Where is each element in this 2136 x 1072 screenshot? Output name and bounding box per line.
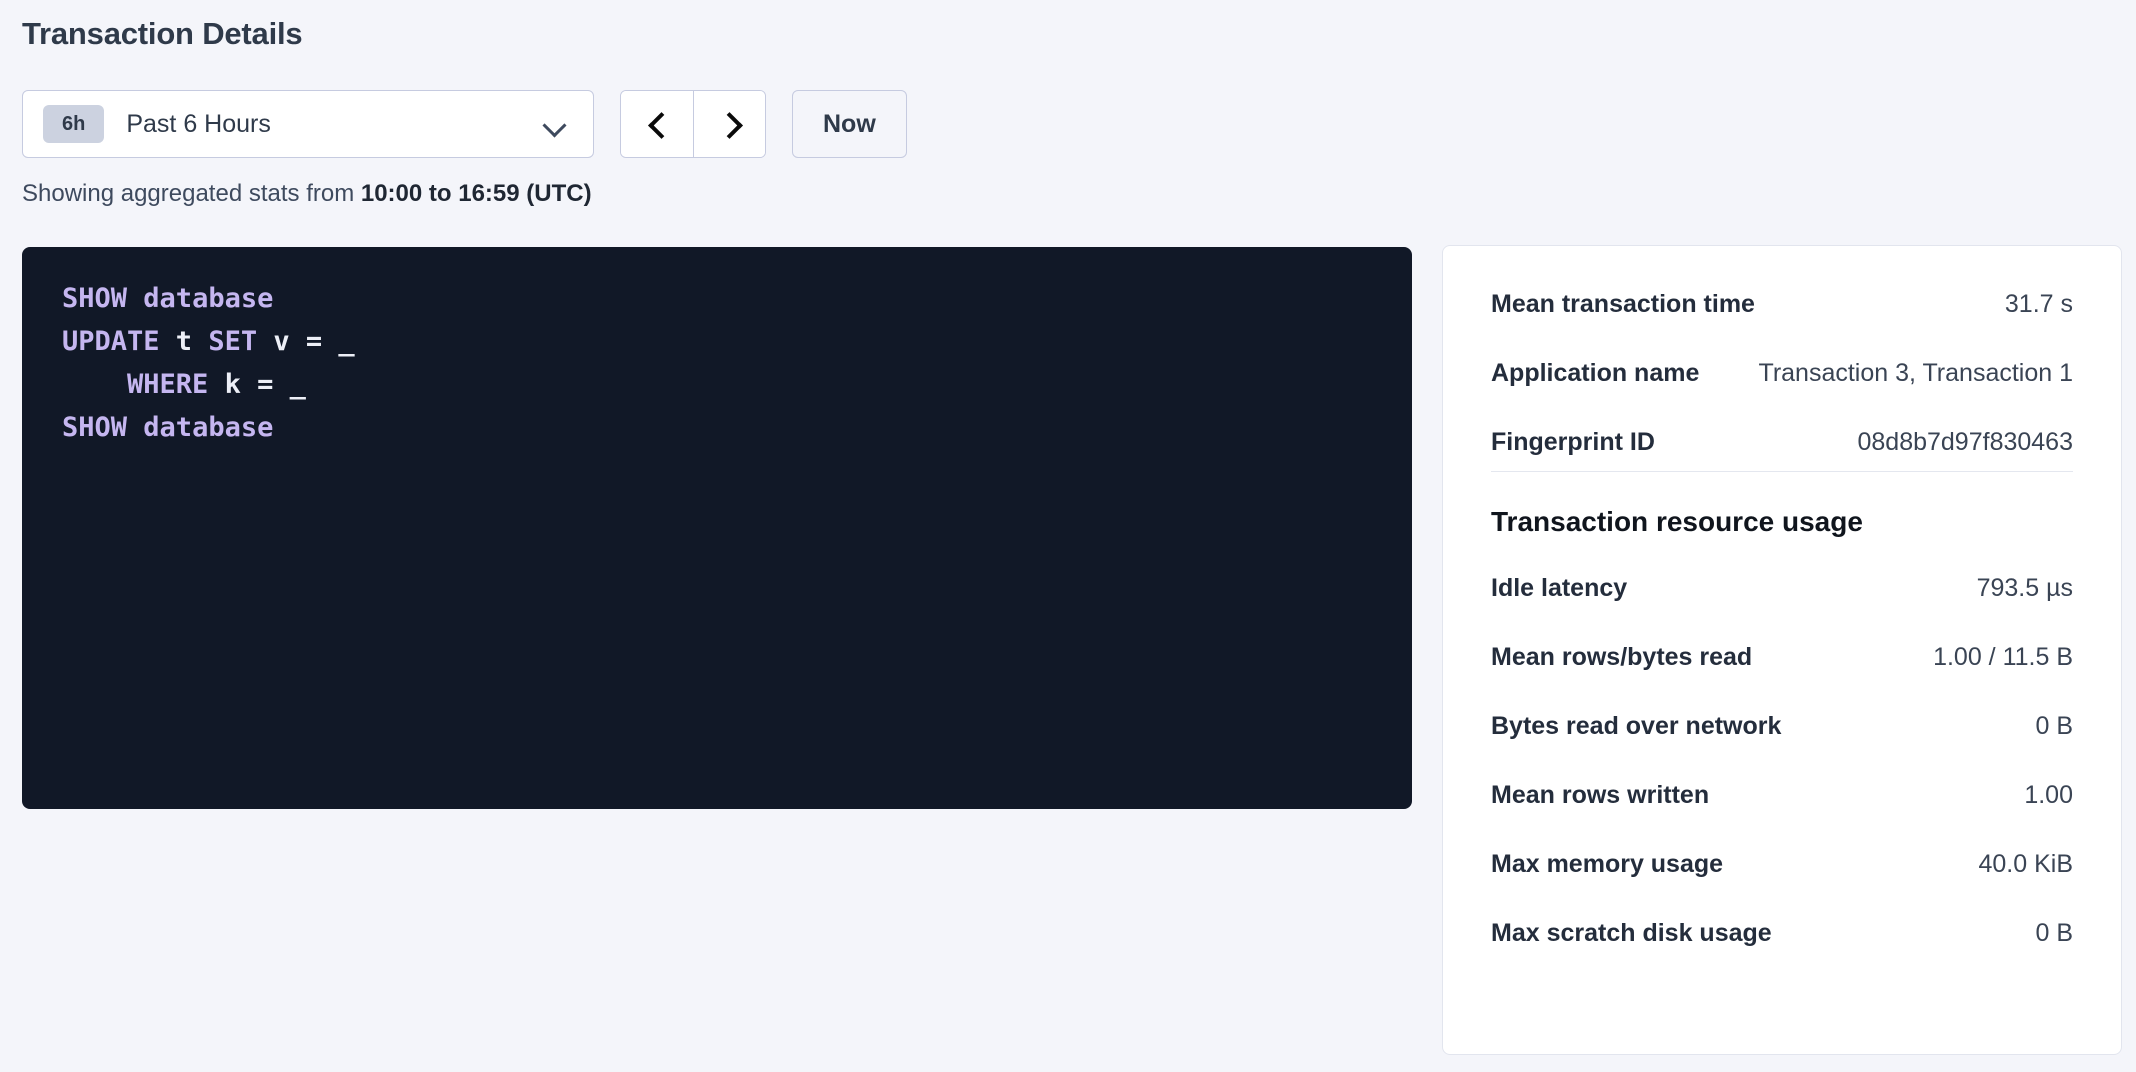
time-range-label: Past 6 Hours (126, 110, 543, 139)
resource-label: Bytes read over network (1491, 712, 1781, 741)
time-nav-group (620, 90, 766, 158)
detail-row: Max memory usage40.0 KiB (1491, 850, 2073, 879)
detail-value: 31.7 s (2005, 290, 2073, 319)
sql-token-plain (62, 369, 127, 400)
sql-token-kw: SET (208, 326, 257, 357)
detail-row: Mean rows written1.00 (1491, 781, 2073, 810)
transaction-summary-list: Mean transaction time31.7 sApplication n… (1491, 290, 2073, 457)
time-range-select[interactable]: 6h Past 6 Hours (22, 90, 594, 158)
resource-value: 793.5 µs (1977, 574, 2073, 603)
detail-value: 08d8b7d97f830463 (1857, 428, 2073, 457)
chevron-right-icon (719, 113, 741, 135)
detail-row: Max scratch disk usage0 B (1491, 919, 2073, 948)
next-range-button[interactable] (693, 91, 765, 157)
detail-label: Fingerprint ID (1491, 428, 1655, 457)
sql-statement-block[interactable]: SHOW databaseUPDATE t SET v = _ WHERE k … (22, 247, 1412, 809)
detail-value: Transaction 3, Transaction 1 (1758, 359, 2073, 388)
aggregation-range-value: 10:00 to 16:59 (UTC) (361, 180, 592, 207)
chevron-left-icon (646, 113, 668, 135)
now-button[interactable]: Now (792, 90, 907, 158)
sql-token-kw: SHOW (62, 283, 127, 314)
detail-label: Application name (1491, 359, 1699, 388)
resource-label: Max memory usage (1491, 850, 1723, 879)
sql-line: UPDATE t SET v = _ (62, 320, 1372, 363)
resource-label: Max scratch disk usage (1491, 919, 1772, 948)
sql-token-plain (127, 412, 143, 443)
detail-row: Mean rows/bytes read1.00 / 11.5 B (1491, 643, 2073, 672)
time-range-toolbar: 6h Past 6 Hours Now (22, 90, 907, 158)
sql-token-plain: k = _ (208, 369, 306, 400)
sql-token-plain: t (160, 326, 209, 357)
page-title: Transaction Details (22, 16, 302, 52)
resource-value: 0 B (2035, 919, 2073, 948)
resource-value: 0 B (2035, 712, 2073, 741)
detail-row: Mean transaction time31.7 s (1491, 290, 2073, 319)
sql-line: SHOW database (62, 406, 1372, 449)
detail-row: Fingerprint ID08d8b7d97f830463 (1491, 428, 2073, 457)
resource-label: Idle latency (1491, 574, 1627, 603)
resource-label: Mean rows/bytes read (1491, 643, 1752, 672)
resource-usage-title: Transaction resource usage (1491, 506, 2073, 538)
sql-token-kw: WHERE (127, 369, 208, 400)
resource-value: 40.0 KiB (1978, 850, 2073, 879)
previous-range-button[interactable] (621, 91, 693, 157)
detail-row: Idle latency793.5 µs (1491, 574, 2073, 603)
sql-token-plain (127, 283, 143, 314)
detail-row: Bytes read over network0 B (1491, 712, 2073, 741)
sql-token-id: database (143, 283, 273, 314)
sql-token-plain: v = _ (257, 326, 355, 357)
transaction-details-page: Transaction Details 6h Past 6 Hours Now … (0, 0, 2136, 1072)
aggregation-range-text: Showing aggregated stats from 10:00 to 1… (22, 180, 592, 208)
aggregation-range-prefix: Showing aggregated stats from (22, 180, 361, 207)
sql-token-kw: UPDATE (62, 326, 160, 357)
sql-token-id: database (143, 412, 273, 443)
time-range-badge: 6h (43, 105, 104, 143)
resource-label: Mean rows written (1491, 781, 1709, 810)
resource-value: 1.00 (2024, 781, 2073, 810)
sql-token-kw: SHOW (62, 412, 127, 443)
chevron-down-icon (543, 112, 567, 136)
resource-value: 1.00 / 11.5 B (1933, 643, 2073, 672)
sql-line: SHOW database (62, 277, 1372, 320)
sql-line: WHERE k = _ (62, 363, 1372, 406)
detail-label: Mean transaction time (1491, 290, 1755, 319)
card-divider (1491, 471, 2073, 472)
transaction-resource-list: Idle latency793.5 µsMean rows/bytes read… (1491, 574, 2073, 948)
detail-row: Application nameTransaction 3, Transacti… (1491, 359, 2073, 388)
transaction-detail-card: Mean transaction time31.7 sApplication n… (1442, 245, 2122, 1055)
